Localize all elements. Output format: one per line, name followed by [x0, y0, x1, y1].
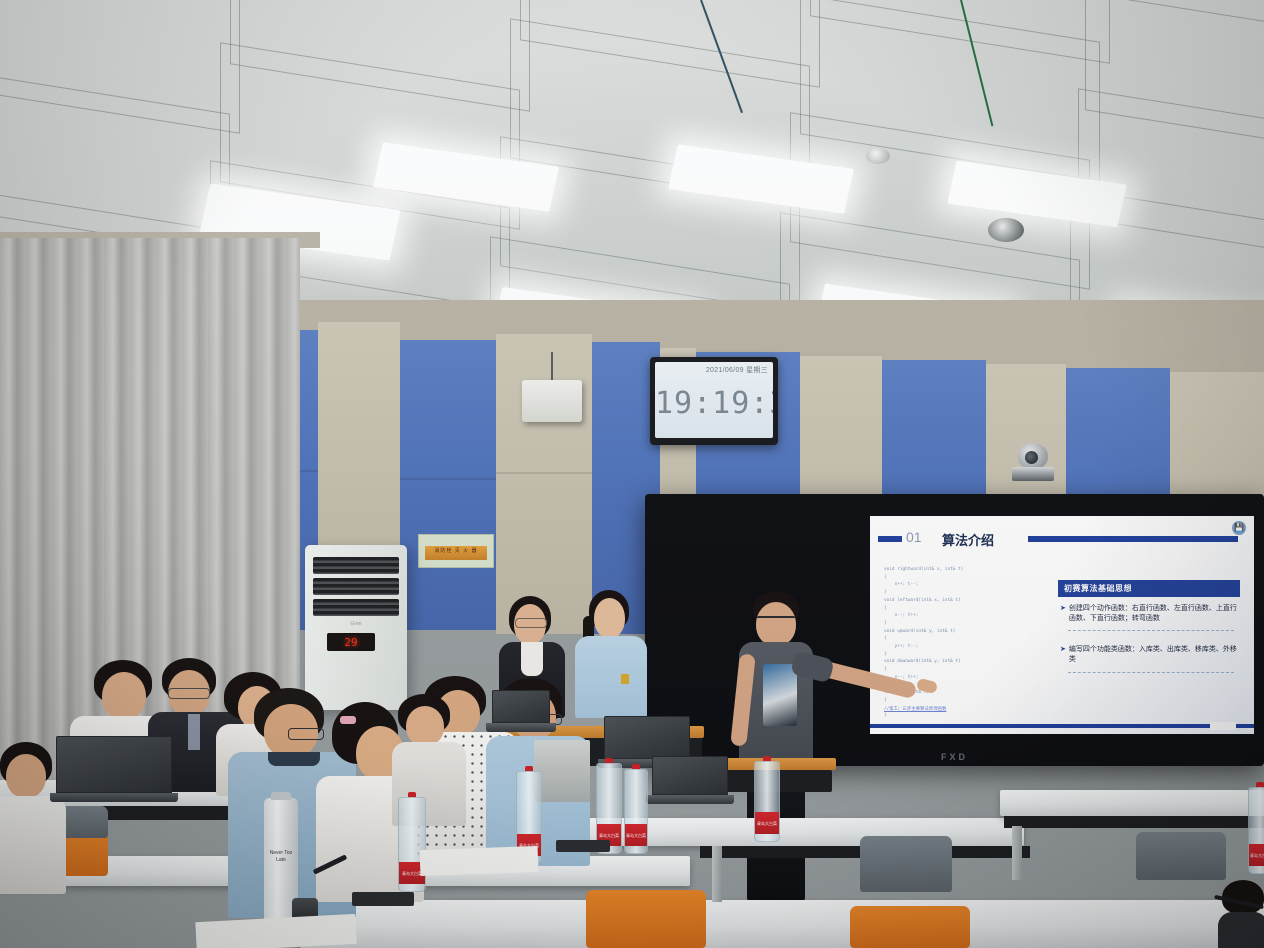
- ac-brand-label: Gree: [305, 621, 407, 627]
- classroom-photo: 消防栓 灭 火 器 2021/06/09 星期三 19:19:35 Gree 2…: [0, 0, 1264, 948]
- bottle-body: 青岛大白菜: [398, 797, 426, 892]
- desk-leg: [1012, 826, 1022, 880]
- save-icon[interactable]: 💾: [1232, 521, 1246, 535]
- audience-head: [102, 672, 146, 720]
- ac-vent: [313, 557, 399, 574]
- chair[interactable]: [850, 906, 970, 948]
- bullet-text: 创建四个动作函数：右直行函数、左直行函数、上直行函数、下直行函数；转弯函数: [1069, 604, 1238, 624]
- slide-footer-bar: [870, 724, 1254, 728]
- bottle-label-text: 青岛大白菜: [1249, 853, 1264, 859]
- paper-sheet: [420, 846, 539, 876]
- slide-accent-bar-left: [878, 536, 902, 542]
- water-bottle[interactable]: 青岛大白菜: [1248, 782, 1264, 874]
- wall-column: [496, 334, 592, 634]
- slide-title: 算法介绍: [942, 530, 994, 549]
- speaker-cable: [551, 352, 553, 382]
- staff-collar: [521, 642, 543, 676]
- slide-bullet: ➤ 编写四个功能类函数：入库类、出库类、移库类、外移类: [1060, 645, 1238, 665]
- desktop-tower: [534, 740, 590, 802]
- slide-number: 01: [906, 529, 922, 545]
- divider: [1068, 630, 1234, 631]
- bullet-arrow-icon: ➤: [1060, 645, 1066, 665]
- thermos-label-text: Never Too Late: [268, 850, 294, 863]
- sign-text: 消防栓 灭 火 器: [419, 547, 493, 554]
- slide-bullet: ➤ 创建四个动作函数：右直行函数、左直行函数、上直行函数、下直行函数；转弯函数: [1060, 604, 1238, 624]
- bottle-label-text: 青岛大白菜: [597, 833, 621, 839]
- slide-highlight-box: 初赛算法基础思想 ➤ 创建四个动作函数：右直行函数、左直行函数、上直行函数、下直…: [1058, 580, 1240, 673]
- laptop-screen: [56, 736, 172, 793]
- smartphone[interactable]: [556, 840, 610, 852]
- laptop-base: [646, 795, 734, 804]
- laptop-screen: [604, 716, 690, 759]
- bottle-label-text: 青岛大白菜: [625, 833, 647, 839]
- audience-top: [0, 796, 66, 894]
- paper-sheet: [195, 914, 356, 948]
- chair[interactable]: [586, 890, 706, 948]
- bullet-arrow-icon: ➤: [1060, 604, 1066, 624]
- audience-tie: [188, 714, 200, 750]
- thermos-cap: [271, 792, 291, 800]
- audience-head: [406, 706, 444, 746]
- clock-time: 19:19:35: [655, 386, 773, 421]
- wall-clock-monitor: 2021/06/09 星期三 19:19:35: [650, 357, 778, 445]
- panel-seam: [400, 478, 496, 480]
- staff-glasses-icon: [515, 618, 547, 628]
- hair-clip: [340, 716, 356, 724]
- bottle-label: 青岛大白菜: [1249, 844, 1264, 866]
- slide-code-comment: //第二、三步主要算法原理函数: [884, 706, 946, 712]
- ac-led-panel: 29: [327, 633, 375, 651]
- bottle-label: 青岛大白菜: [625, 824, 647, 846]
- laptop[interactable]: [56, 736, 172, 802]
- audience-desk: [1000, 790, 1264, 816]
- laptop[interactable]: [652, 756, 728, 804]
- desk-leg: [712, 846, 722, 902]
- laptop-base: [486, 723, 556, 732]
- clock-date: 2021/06/09 星期三: [706, 365, 768, 375]
- divider: [1068, 672, 1234, 673]
- bottle-label-text: 青岛大白菜: [755, 821, 779, 827]
- camera-mount: [1012, 467, 1054, 481]
- ac-vent: [313, 578, 399, 595]
- staff-head: [594, 598, 625, 638]
- audience-desk-front: [300, 900, 1264, 948]
- bottle-body: 青岛大白菜: [624, 769, 648, 854]
- fire-safety-sign: 消防栓 灭 火 器: [418, 534, 494, 568]
- presenter-shirt-graphic: [763, 664, 797, 726]
- bottle-label: 青岛大白菜: [755, 812, 779, 834]
- wall-panel-blue: [400, 340, 496, 630]
- ac-vent: [313, 599, 399, 616]
- smartphone[interactable]: [352, 892, 414, 906]
- bullet-text: 编写四个功能类函数：入库类、出库类、移库类、外移类: [1069, 645, 1238, 665]
- bottle-body: 青岛大白菜: [754, 761, 780, 842]
- audience-glasses-icon: [168, 688, 210, 699]
- slide-accent-bar-right: [1028, 536, 1238, 542]
- camera-lens-icon: [1025, 451, 1038, 464]
- air-conditioner[interactable]: Gree 29: [305, 545, 407, 710]
- polo-collar: [268, 752, 320, 766]
- ceiling-speaker-dome: [866, 148, 890, 164]
- slide-footer-notch: [1210, 722, 1236, 730]
- laptop-screen: [492, 690, 550, 723]
- chair[interactable]: [860, 836, 952, 892]
- chair[interactable]: [1136, 832, 1226, 880]
- water-bottle[interactable]: 青岛大白菜: [398, 792, 426, 892]
- audience-member: [1222, 880, 1264, 948]
- presentation-slide: 01 算法介绍 💾 void rightward(int& x, int& t)…: [870, 516, 1254, 734]
- presenter-glasses-icon: [757, 616, 795, 625]
- laptop[interactable]: [492, 690, 550, 732]
- ptz-camera: [1012, 443, 1054, 483]
- bottle-body: 青岛大白菜: [1248, 787, 1264, 874]
- slide-box-heading: 初赛算法基础思想: [1058, 580, 1240, 597]
- ceiling-dome-camera: [988, 218, 1024, 242]
- panel-seam: [496, 472, 592, 474]
- water-bottle[interactable]: 青岛大白菜: [754, 756, 780, 842]
- audience-top: [1218, 912, 1264, 948]
- laptop-base: [50, 793, 178, 802]
- desk-apron: [1004, 816, 1264, 828]
- clock-screen: 2021/06/09 星期三 19:19:35: [655, 362, 773, 438]
- wall-speaker: [522, 380, 582, 422]
- water-bottle[interactable]: 青岛大白菜: [624, 764, 648, 854]
- audience-head: [6, 754, 46, 798]
- ac-temperature-reading: 29: [327, 636, 375, 649]
- staff-badge: [621, 674, 629, 684]
- laptop-screen: [652, 756, 728, 795]
